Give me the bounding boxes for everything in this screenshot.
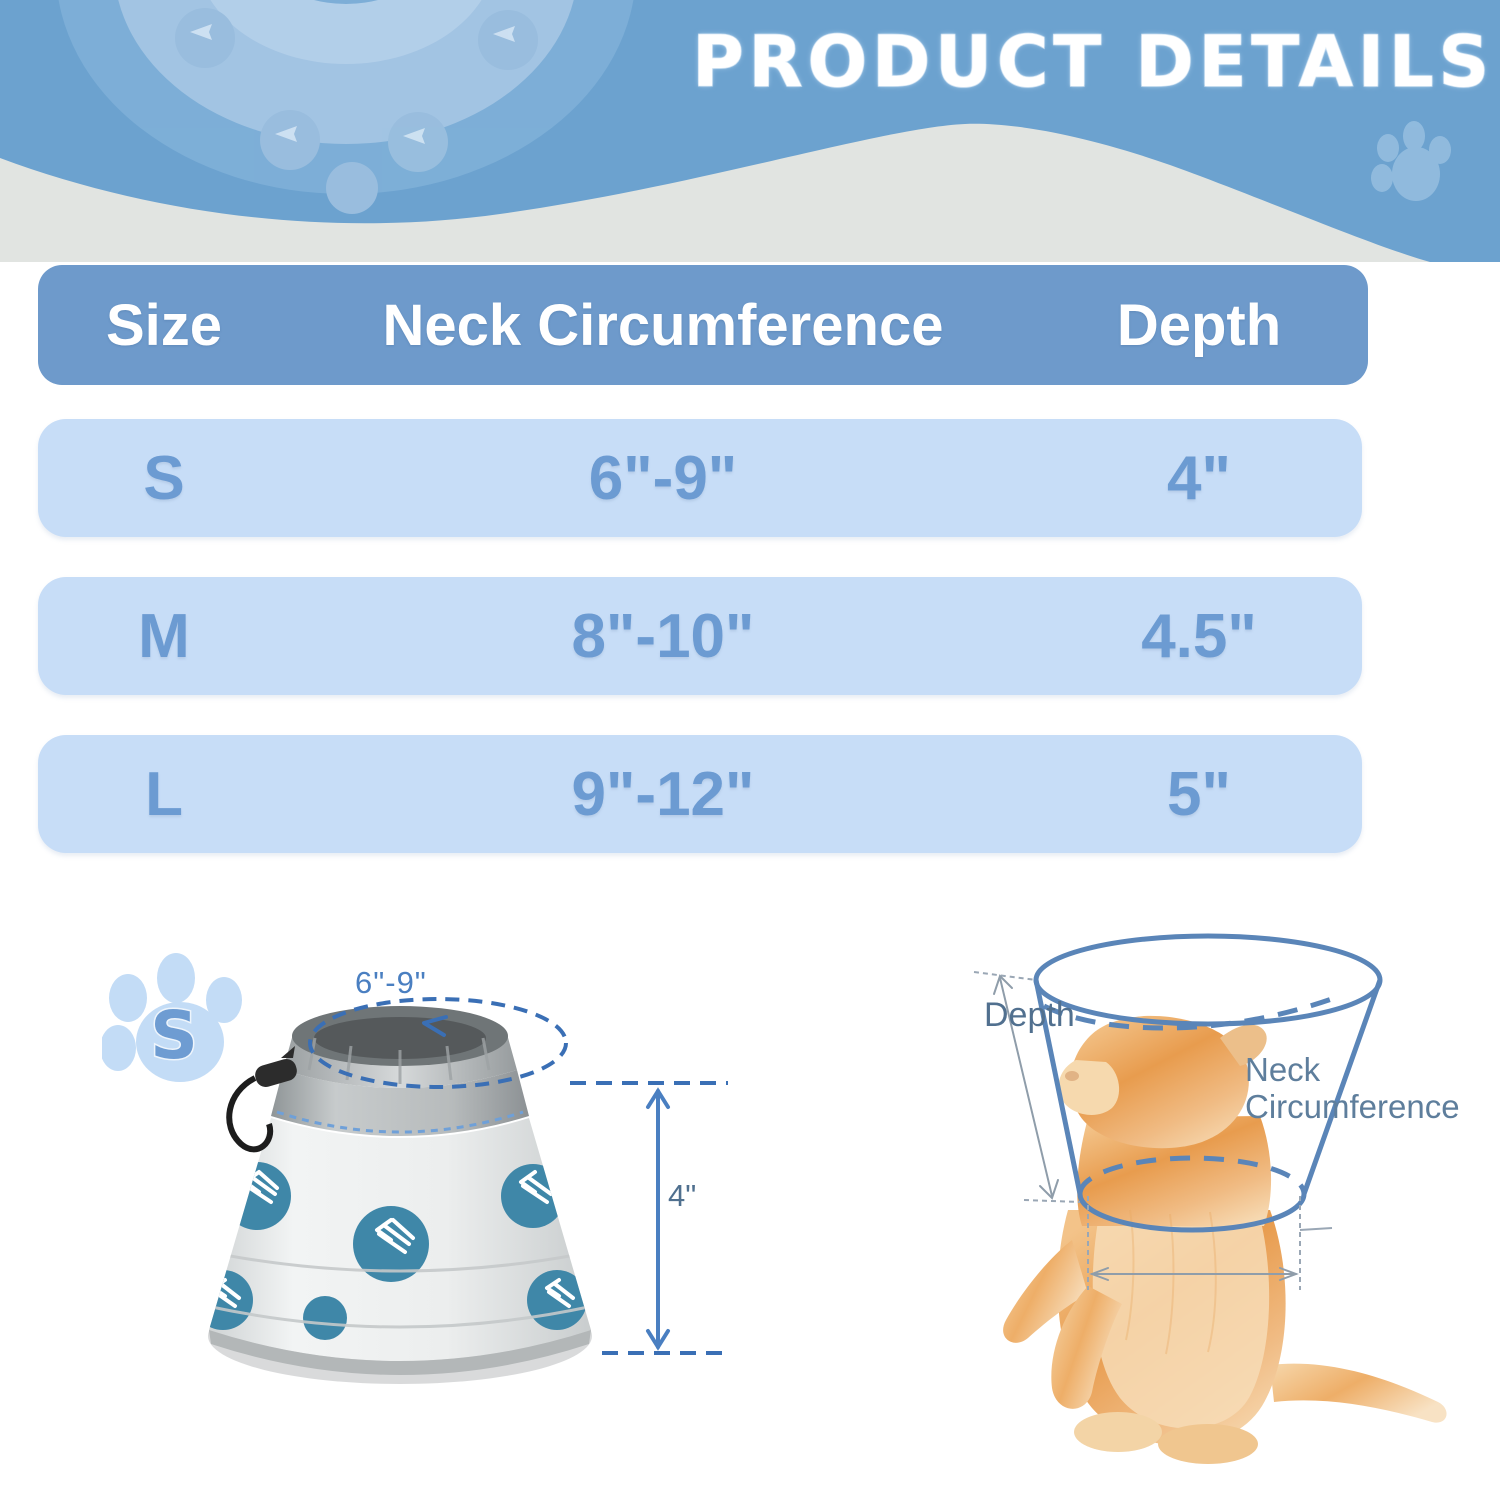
column-header-size: Size: [38, 265, 290, 385]
neck-opening-dashed-ellipse: [310, 999, 566, 1087]
table-row: M 8"-10" 4.5": [38, 577, 1362, 695]
cell-depth: 5": [1036, 735, 1362, 853]
product-neck-label: 6"-9": [355, 965, 427, 1001]
column-header-depth: Depth: [1036, 265, 1362, 385]
cell-size: L: [38, 735, 290, 853]
cone-top-ellipse: [1036, 936, 1380, 1024]
header-banner: PRODUCT DETAILS: [0, 0, 1500, 262]
cell-size: M: [38, 577, 290, 695]
neck-label-line-2: Circumference: [1245, 1089, 1460, 1126]
product-measurement-annotations: [250, 955, 780, 1385]
page-title: PRODUCT DETAILS: [604, 14, 1494, 110]
cat-tail: [1270, 1364, 1447, 1423]
product-depth-label: 4": [668, 1178, 696, 1214]
product-details-infographic: PRODUCT DETAILS Size Neck Circumference …: [0, 0, 1500, 1500]
cell-depth: 4.5": [1036, 577, 1362, 695]
cat-neck-circumference-label: Neck Circumference: [1245, 1052, 1460, 1126]
table-row: S 6"-9" 4": [38, 419, 1362, 537]
table-header-row: Size Neck Circumference Depth: [38, 265, 1368, 385]
column-header-neck-circumference: Neck Circumference: [290, 265, 1036, 385]
neck-arrow-head: [424, 1017, 446, 1035]
cell-neck: 9"-12": [290, 735, 1036, 853]
table-row: L 9"-12" 5": [38, 735, 1362, 853]
cell-depth: 4": [1036, 419, 1362, 537]
cat-depth-label: Depth: [984, 996, 1075, 1035]
cell-neck: 6"-9": [290, 419, 1036, 537]
depth-arrow: [648, 1091, 668, 1347]
neck-label-line-1: Neck: [1245, 1052, 1460, 1089]
cell-neck: 8"-10": [290, 577, 1036, 695]
size-chart-table: Size Neck Circumference Depth S 6"-9" 4"…: [38, 265, 1370, 893]
cell-size: S: [38, 419, 290, 537]
